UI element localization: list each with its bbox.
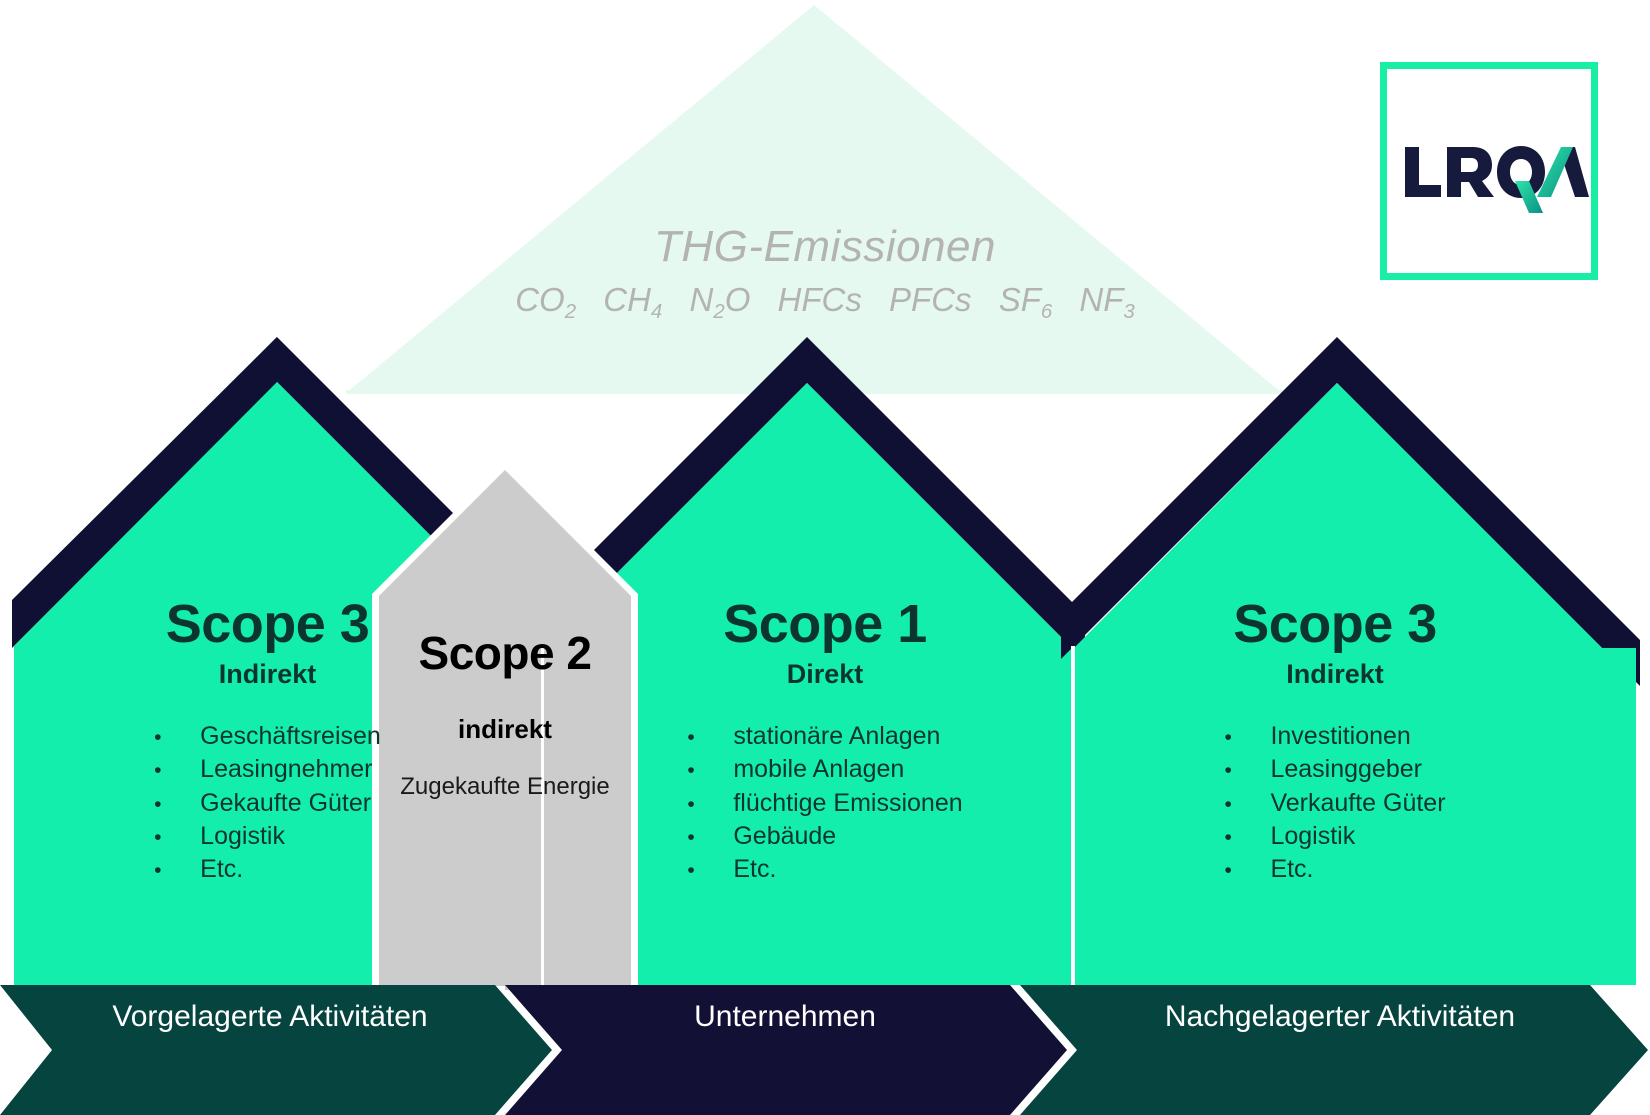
list-item: • Gebäude <box>687 820 962 853</box>
list-item: • Logistik <box>1224 820 1445 853</box>
list-item-label: Etc. <box>733 853 776 886</box>
bullet-icon: • <box>1224 824 1270 852</box>
scope1-title: Scope 1 <box>630 596 1020 653</box>
list-item: • Etc. <box>1224 853 1445 886</box>
list-item: • Etc. <box>154 853 381 886</box>
list-item: • Investitionen <box>1224 720 1445 753</box>
list-item-label: stationäre Anlagen <box>733 720 940 753</box>
list-item-label: Logistik <box>1270 820 1355 853</box>
bullet-icon: • <box>687 724 733 752</box>
banner-downstream-label: Nachgelagerter Aktivitäten <box>1060 1000 1620 1034</box>
bullet-icon: • <box>687 824 733 852</box>
list-item-label: Etc. <box>200 853 243 886</box>
bullet-icon: • <box>154 791 200 819</box>
bullet-icon: • <box>1224 757 1270 785</box>
bullet-icon: • <box>154 857 200 885</box>
scope1-content: Scope 1 Direkt • stationäre Anlagen • mo… <box>630 596 1020 886</box>
scope1-subtitle: Direkt <box>630 659 1020 690</box>
list-item-label: Investitionen <box>1270 720 1410 753</box>
bullet-icon: • <box>154 824 200 852</box>
gas-hfcs: HFCs <box>778 281 862 318</box>
gas-n2o: N2O <box>689 281 750 318</box>
list-item-label: Verkaufte Güter <box>1270 787 1445 820</box>
thg-emissions-background-triangle <box>346 5 1282 393</box>
list-item-label: Etc. <box>1270 853 1313 886</box>
bullet-icon: • <box>1224 857 1270 885</box>
scope3-downstream-content: Scope 3 Indirekt • Investitionen • Leasi… <box>1025 596 1645 886</box>
scope2-subtitle: indirekt <box>381 714 629 745</box>
list-item: • stationäre Anlagen <box>687 720 962 753</box>
lrqa-logo-icon <box>1403 141 1589 215</box>
scope-emissions-diagram: THG-Emissionen CO2 CH4 N2O HFCs PFCs SF6… <box>0 0 1650 1115</box>
gas-co2: CO2 <box>515 281 576 318</box>
list-item-label: Geschäftsreisen <box>200 720 381 753</box>
list-item: • Etc. <box>687 853 962 886</box>
list-item: • Verkaufte Güter <box>1224 787 1445 820</box>
lrqa-logo-box <box>1380 62 1598 280</box>
gas-nf3: NF3 <box>1079 281 1134 318</box>
banner-upstream-label: Vorgelagerte Aktivitäten <box>30 1000 510 1034</box>
bullet-icon: • <box>154 757 200 785</box>
thg-gas-list: CO2 CH4 N2O HFCs PFCs SF6 NF3 <box>0 281 1650 319</box>
list-item-label: Leasinggeber <box>1270 753 1422 786</box>
list-item-label: Logistik <box>200 820 285 853</box>
list-item-label: Leasingnehmer <box>200 753 372 786</box>
list-item-label: Gekaufte Güter <box>200 787 371 820</box>
list-item: • Geschäftsreisen <box>154 720 381 753</box>
bullet-icon: • <box>1224 724 1270 752</box>
list-item: • Leasingnehmer <box>154 753 381 786</box>
scope2-title: Scope 2 <box>381 626 629 680</box>
list-item: • flüchtige Emissionen <box>687 787 962 820</box>
list-item: • mobile Anlagen <box>687 753 962 786</box>
scope3-downstream-subtitle: Indirekt <box>1025 659 1645 690</box>
bullet-icon: • <box>1224 791 1270 819</box>
list-item-label: flüchtige Emissionen <box>733 787 962 820</box>
bullet-icon: • <box>154 724 200 752</box>
list-item-label: Gebäude <box>733 820 836 853</box>
bullet-icon: • <box>687 857 733 885</box>
scope1-bullet-list: • stationäre Anlagen • mobile Anlagen • … <box>687 720 962 886</box>
scope3-upstream-bullet-list: • Geschäftsreisen • Leasingnehmer • Geka… <box>154 720 381 886</box>
scope2-content: Scope 2 indirekt Zugekaufte Energie <box>381 626 629 801</box>
scope3-downstream-bullet-list: • Investitionen • Leasinggeber • Verkauf… <box>1224 720 1445 886</box>
list-item: • Logistik <box>154 820 381 853</box>
list-item-label: mobile Anlagen <box>733 753 904 786</box>
gas-ch4: CH4 <box>603 281 662 318</box>
list-item: • Leasinggeber <box>1224 753 1445 786</box>
gas-sf6: SF6 <box>999 281 1053 318</box>
scope2-note: Zugekaufte Energie <box>381 773 629 801</box>
list-item: • Gekaufte Güter <box>154 787 381 820</box>
bullet-icon: • <box>687 791 733 819</box>
gas-pfcs: PFCs <box>889 281 972 318</box>
banner-company-label: Unternehmen <box>545 1000 1025 1034</box>
scope3-downstream-title: Scope 3 <box>1025 596 1645 653</box>
bullet-icon: • <box>687 757 733 785</box>
